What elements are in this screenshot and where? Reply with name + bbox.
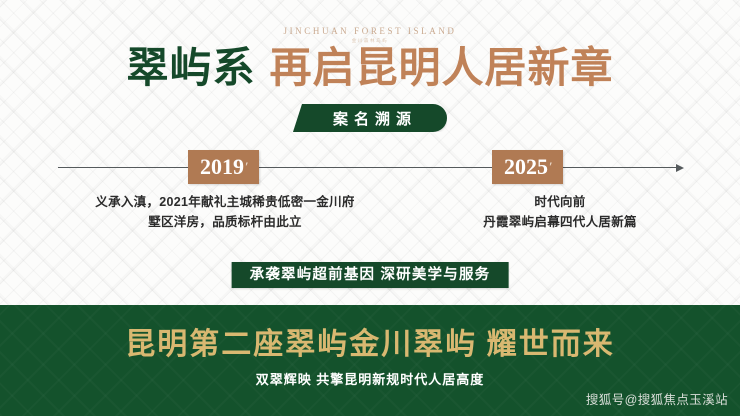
timeline-node-2019-year: 2019 <box>200 154 244 179</box>
bottom-banner-subtitle: 双翠辉映 共擎昆明新规时代人居高度 <box>0 369 740 388</box>
headline-series-name: 翠屿系 <box>126 46 255 92</box>
timeline-description-2025: 时代向前 丹霞翠屿启幕四代人居新篇 <box>410 192 710 232</box>
section-tag-label: 案名溯源 <box>327 108 417 129</box>
timeline-axis: 2019′ 2025′ <box>58 167 684 169</box>
headline-tagline: 再启昆明人居新章 <box>270 46 614 92</box>
timeline-description-2025-line1: 时代向前 <box>410 192 710 212</box>
timeline-description-2019-line2: 墅区洋房，品质标杆由此立 <box>50 212 400 232</box>
brand-lockup: JINCHUAN FOREST ISLAND 金川森林岛屿 <box>0 26 740 44</box>
timeline-node-2019: 2019′ <box>188 150 259 184</box>
timeline-node-2025-tick: ′ <box>549 159 553 174</box>
timeline-line <box>58 167 676 168</box>
mid-statement-label: 承袭翠屿超前基因 深研美学与服务 <box>250 267 491 283</box>
mid-statement-bar: 承袭翠屿超前基因 深研美学与服务 <box>232 262 509 288</box>
timeline-description-2025-line2: 丹霞翠屿启幕四代人居新篇 <box>410 212 710 232</box>
timeline-description-2019-line1: 义承入滇，2021年献礼主城稀贵低密一金川府 <box>50 192 400 212</box>
section-tag-banner: 案名溯源 <box>293 104 447 132</box>
poster-canvas: JINCHUAN FOREST ISLAND 金川森林岛屿 翠屿系再启昆明人居新… <box>0 0 740 416</box>
timeline-arrow-icon <box>676 164 684 172</box>
page-title: 翠屿系再启昆明人居新章 <box>0 48 740 90</box>
timeline-node-2025-year: 2025 <box>504 154 548 179</box>
timeline-description-2019: 义承入滇，2021年献礼主城稀贵低密一金川府 墅区洋房，品质标杆由此立 <box>50 192 400 232</box>
watermark-label: 搜狐号@搜狐焦点玉溪站 <box>586 389 728 408</box>
bottom-banner-title: 昆明第二座翠屿金川翠屿 耀世而来 <box>0 330 740 360</box>
bottom-banner: 昆明第二座翠屿金川翠屿 耀世而来 双翠辉映 共擎昆明新规时代人居高度 搜狐号@搜… <box>0 305 740 416</box>
brand-chinese-name: 金川森林岛屿 <box>0 38 740 44</box>
timeline-node-2019-tick: ′ <box>245 159 249 174</box>
timeline-node-2025: 2025′ <box>492 150 563 184</box>
brand-english-name: JINCHUAN FOREST ISLAND <box>0 26 740 36</box>
